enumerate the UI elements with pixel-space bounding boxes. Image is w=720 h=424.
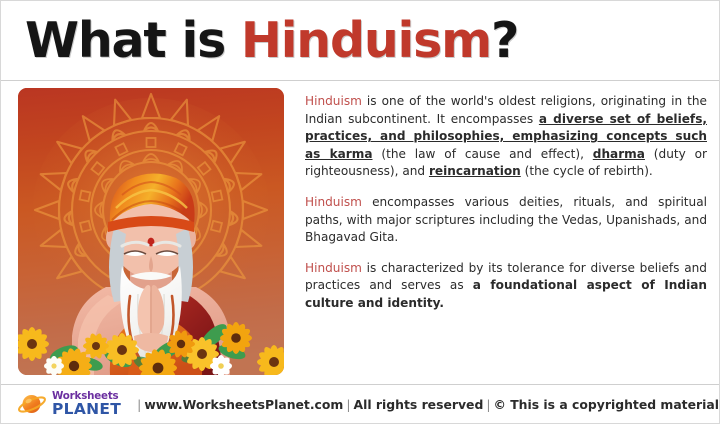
page-title-plain: What is [25, 12, 241, 69]
footer-separator: | [343, 397, 353, 412]
page-title: What is Hinduism? [25, 16, 518, 65]
underlined-term-reincarnation: reincarnation [429, 164, 521, 178]
page-title-suffix: ? [491, 12, 518, 69]
text-segment: (the cycle of rebirth). [521, 164, 653, 178]
text-segment: encompasses various deities, rituals, an… [305, 195, 707, 244]
underlined-term-dharma: dharma [593, 147, 645, 161]
keyword-hinduism: Hinduism [305, 261, 362, 275]
footer-credits: |www.WorksheetsPlanet.com|All rights res… [134, 397, 719, 412]
page-title-accent: Hinduism [241, 12, 491, 69]
footer-separator: | [134, 397, 144, 412]
hindu-sage-illustration [18, 88, 284, 375]
sage-illustration-svg [18, 88, 284, 375]
footer-rights: All rights reserved [354, 397, 484, 412]
page-footer: Worksheets PLANET |www.WorksheetsPlanet.… [1, 385, 720, 424]
footer-website[interactable]: www.WorksheetsPlanet.com [144, 397, 343, 412]
footer-copyright: © This is a copyrighted material [494, 397, 719, 412]
text-segment: (the law of cause and effect), [373, 147, 593, 161]
footer-separator: | [483, 397, 493, 412]
logo-wordmark: Worksheets PLANET [52, 391, 121, 418]
content-area: Hinduism is one of the world's oldest re… [1, 81, 720, 384]
paragraph-1: Hinduism is one of the world's oldest re… [305, 93, 707, 181]
paragraph-2: Hinduism encompasses various deities, ri… [305, 194, 707, 247]
page-header: What is Hinduism? [1, 1, 720, 80]
worksheets-planet-logo[interactable]: Worksheets PLANET [17, 391, 121, 418]
description-text-column: Hinduism is one of the world's oldest re… [305, 93, 707, 313]
keyword-hinduism: Hinduism [305, 94, 362, 108]
paragraph-3: Hinduism is characterized by its toleran… [305, 260, 707, 313]
logo-text-planet: PLANET [52, 402, 121, 418]
keyword-hinduism: Hinduism [305, 195, 362, 209]
worksheet-page: What is Hinduism? [0, 0, 720, 424]
planet-icon [17, 392, 48, 417]
